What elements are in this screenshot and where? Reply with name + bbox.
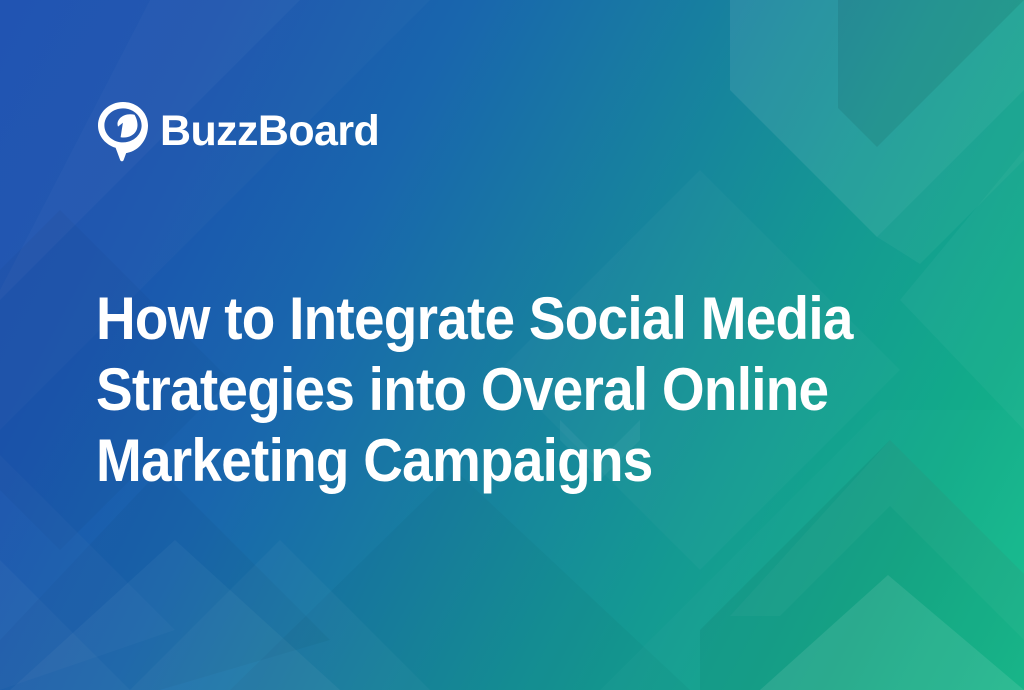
diamond-bottom-left <box>10 540 340 690</box>
diamond-bottom-center <box>230 470 690 690</box>
headline-line-3: Marketing Campaigns <box>96 425 883 496</box>
chevron-up-bottom-right-inner <box>760 575 1024 690</box>
brand-wordmark: BuzzBoard <box>160 110 379 153</box>
diagonal-bottom-center-light <box>130 540 430 690</box>
chevron-down-top-right-band <box>877 90 1024 264</box>
headline-line-2: Strategies into Overal Online <box>96 354 883 425</box>
blog-banner: BuzzBoard How to Integrate Social Media … <box>0 0 1024 690</box>
diamond-bottom-left-2 <box>0 560 130 690</box>
headline-line-1: How to Integrate Social Media <box>96 283 883 354</box>
diagonal-right-edge <box>900 150 1024 430</box>
speech-bubble-leaf-icon <box>96 100 150 162</box>
brand-logo[interactable]: BuzzBoard <box>96 100 379 162</box>
page-title: How to Integrate Social Media Strategies… <box>96 283 883 496</box>
diamond-bottom-center-dark <box>0 470 330 690</box>
chevron-down-top-right-outer <box>730 0 1024 237</box>
chevron-down-top-right-inner <box>836 0 1024 147</box>
